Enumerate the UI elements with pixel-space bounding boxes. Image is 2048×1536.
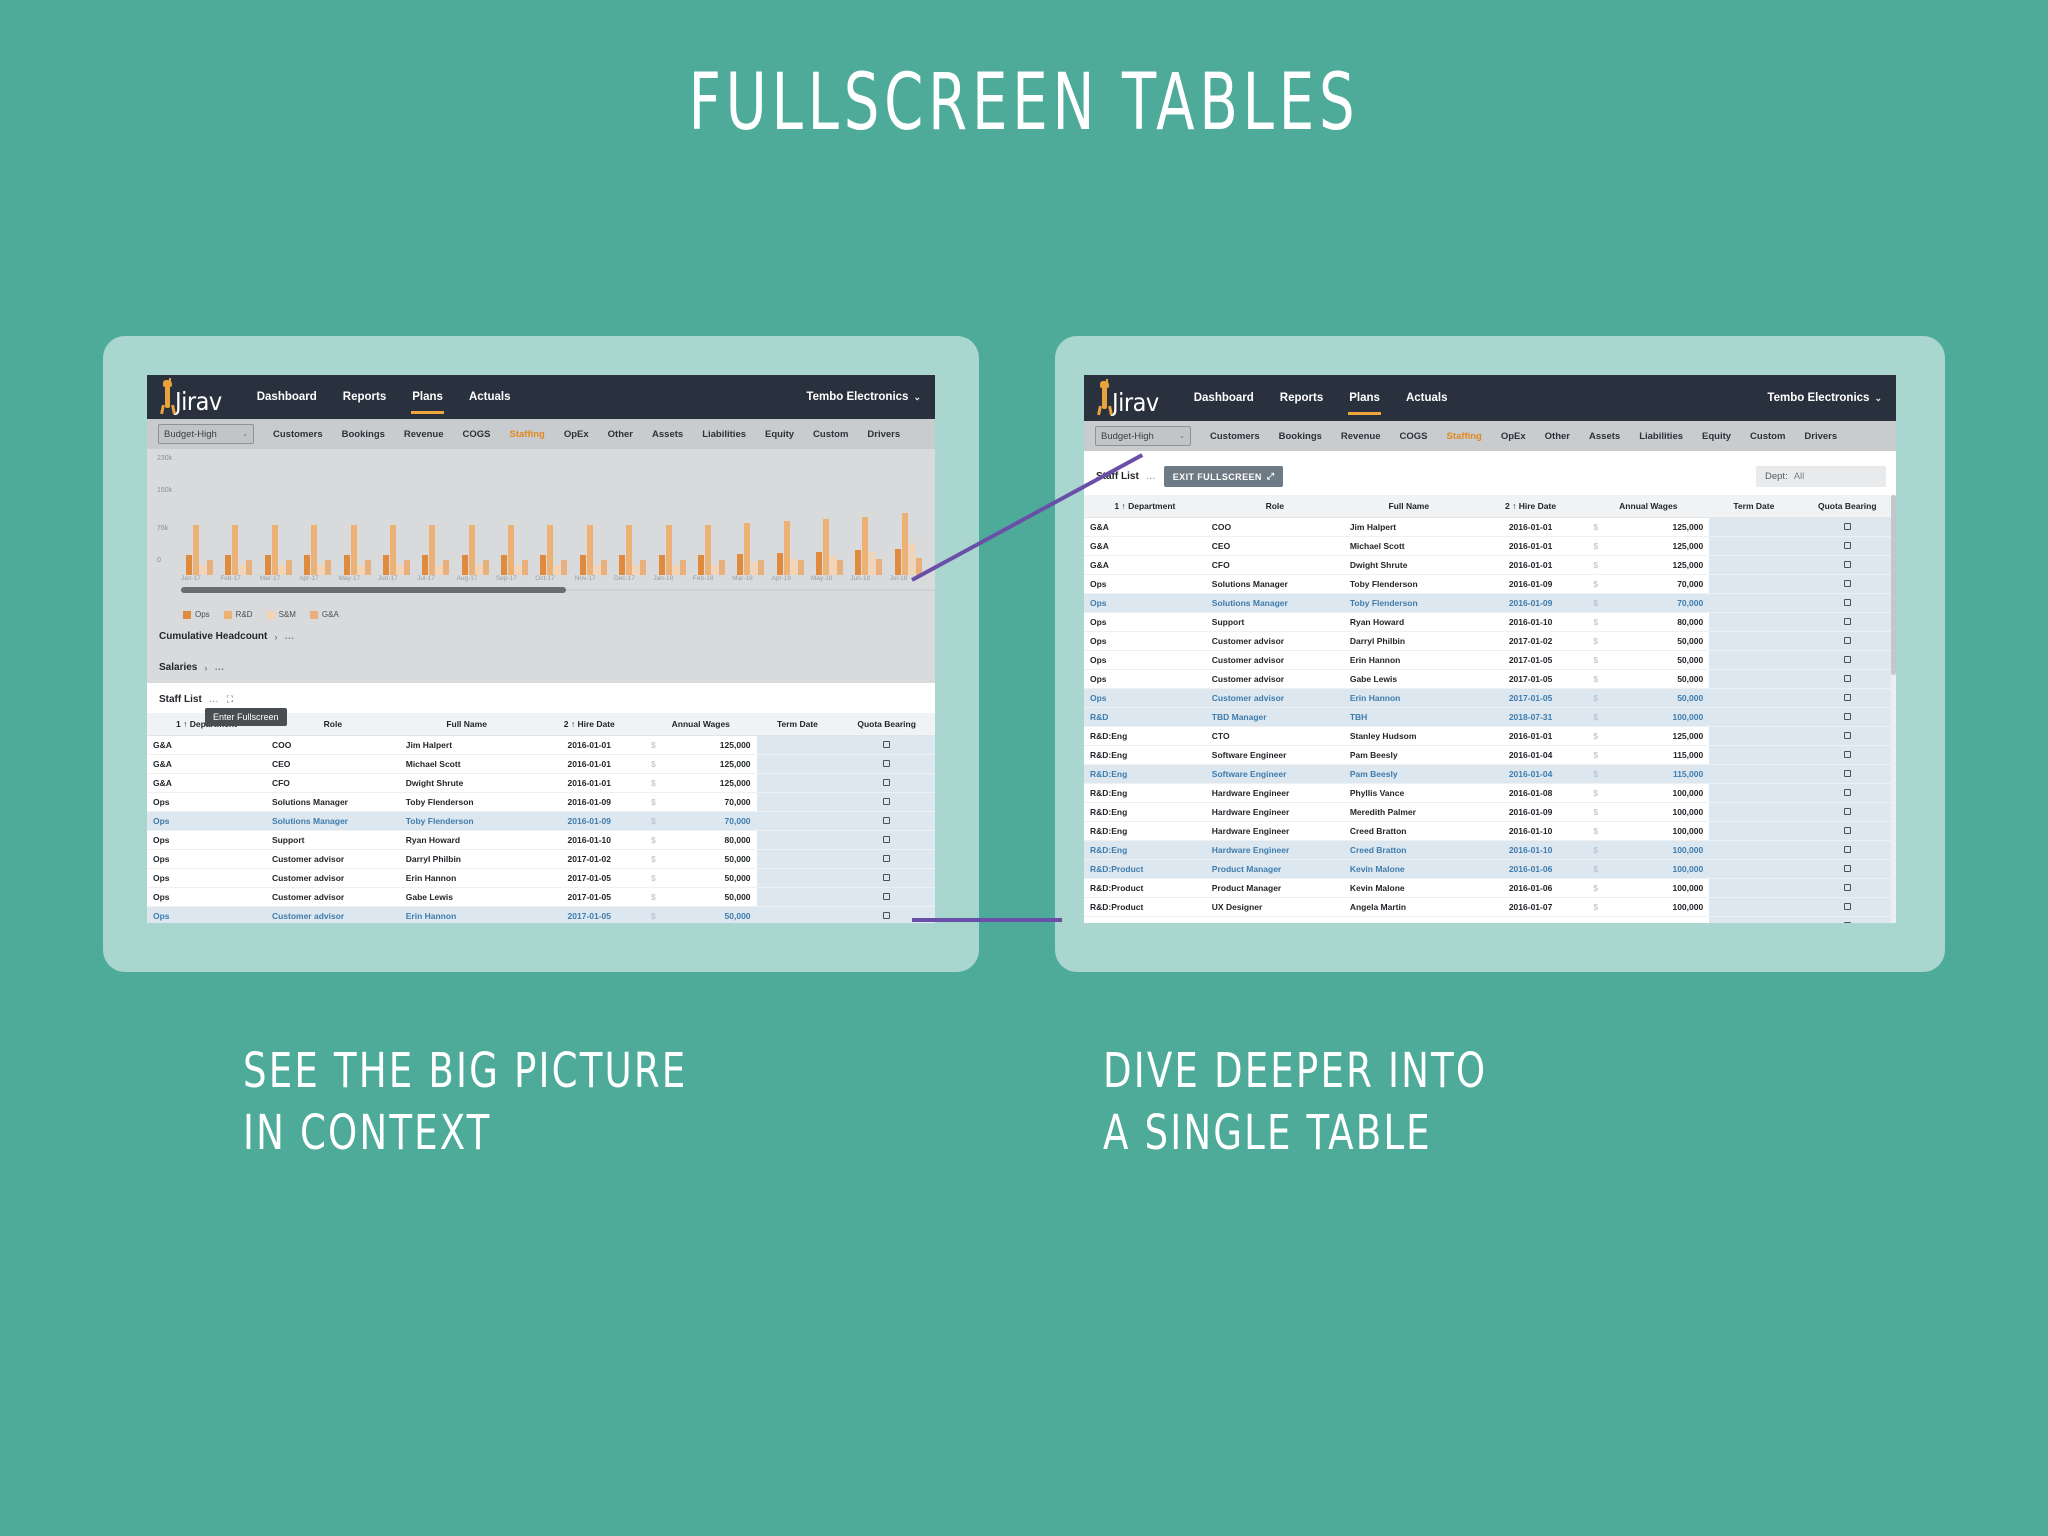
cell-annual-wages[interactable]: $125,000 (645, 755, 757, 774)
cell-full-name[interactable]: Jim Halpert (1344, 518, 1474, 537)
cell-hire-date[interactable]: 2017-01-02 (534, 850, 646, 869)
cell-quota-bearing[interactable] (1799, 670, 1896, 689)
subnav-customers[interactable]: Customers (273, 429, 323, 440)
cell-quota-bearing[interactable] (1799, 594, 1896, 613)
cell-quota-bearing[interactable] (838, 755, 935, 774)
cell-department[interactable]: G&A (147, 736, 266, 755)
cell-hire-date[interactable]: 2016-01-06 (1474, 860, 1588, 879)
table-row[interactable]: G&ACOOJim Halpert2016-01-01$125,000 (147, 736, 935, 755)
cell-term-date[interactable] (1709, 765, 1798, 784)
cell-hire-date[interactable]: 2016-01-11 (1474, 917, 1588, 924)
cell-hire-date[interactable]: 2016-01-01 (1474, 537, 1588, 556)
cell-term-date[interactable] (757, 774, 839, 793)
quota-bearing-checkbox[interactable] (883, 836, 890, 843)
subnav-bookings[interactable]: Bookings (1279, 431, 1322, 442)
cell-term-date[interactable] (1709, 784, 1798, 803)
table-row[interactable]: G&ACEOMichael Scott2016-01-01$125,000 (147, 755, 935, 774)
subnav-opex[interactable]: OpEx (564, 429, 589, 440)
quota-bearing-checkbox[interactable] (883, 779, 890, 786)
cell-term-date[interactable] (1709, 822, 1798, 841)
cell-department[interactable]: Ops (147, 831, 266, 850)
org-switcher[interactable]: Tembo Electronics ⌄ (806, 391, 921, 403)
subnav-drivers[interactable]: Drivers (867, 429, 900, 440)
col-term-date[interactable]: Term Date (757, 713, 839, 736)
cell-term-date[interactable] (1709, 537, 1798, 556)
cell-annual-wages[interactable]: $125,000 (1587, 727, 1709, 746)
table-row[interactable]: OpsCustomer advisorDarryl Philbin2017-01… (147, 850, 935, 869)
cell-department[interactable]: S&M:Marketing (1084, 917, 1206, 924)
cell-hire-date[interactable]: 2017-01-05 (534, 869, 646, 888)
cell-term-date[interactable] (757, 736, 839, 755)
table-row[interactable]: R&DTBD ManagerTBH2018-07-31$100,000 (1084, 708, 1896, 727)
table-row[interactable]: OpsCustomer advisorErin Hannon2017-01-05… (1084, 689, 1896, 708)
subnav-cogs[interactable]: COGS (463, 429, 491, 440)
jirav-logo[interactable]: Jirav (159, 380, 222, 414)
nav-plans[interactable]: Plans (411, 378, 444, 416)
cell-role[interactable]: Solutions Manager (266, 793, 400, 812)
cell-full-name[interactable]: Creed Bratton (1344, 841, 1474, 860)
quota-bearing-checkbox[interactable] (1844, 865, 1851, 872)
col-department[interactable]: 1 ↑ Department (1084, 495, 1206, 518)
cell-full-name[interactable]: Toby Flenderson (1344, 594, 1474, 613)
col-hire-date[interactable]: 2 ↑ Hire Date (1474, 495, 1588, 518)
cell-full-name[interactable]: Dwight Shrute (1344, 556, 1474, 575)
cell-hire-date[interactable]: 2016-01-10 (534, 831, 646, 850)
cell-annual-wages[interactable]: $100,000 (1587, 803, 1709, 822)
cell-annual-wages[interactable]: $125,000 (1587, 556, 1709, 575)
col-quota-bearing[interactable]: Quota Bearing (1799, 495, 1896, 518)
cell-quota-bearing[interactable] (838, 888, 935, 907)
cell-term-date[interactable] (1709, 879, 1798, 898)
cell-role[interactable]: Customer advisor (266, 907, 400, 924)
cell-annual-wages[interactable]: $80,000 (1587, 613, 1709, 632)
cell-quota-bearing[interactable] (1799, 613, 1896, 632)
cell-role[interactable]: Hardware Engineer (1206, 841, 1344, 860)
subnav-liabilities[interactable]: Liabilities (1639, 431, 1683, 442)
cell-department[interactable]: Ops (1084, 670, 1206, 689)
cell-term-date[interactable] (757, 850, 839, 869)
cell-role[interactable]: Marketing manager (1206, 917, 1344, 924)
cell-annual-wages[interactable]: $100,000 (1587, 860, 1709, 879)
table-row[interactable]: R&D:EngSoftware EngineerPam Beesly2016-0… (1084, 765, 1896, 784)
subnav-customers[interactable]: Customers (1210, 431, 1260, 442)
quota-bearing-checkbox[interactable] (1844, 751, 1851, 758)
cell-role[interactable]: Solutions Manager (266, 812, 400, 831)
cell-annual-wages[interactable]: $70,000 (1587, 575, 1709, 594)
table-row[interactable]: R&D:EngHardware EngineerPhyllis Vance201… (1084, 784, 1896, 803)
nav-dashboard[interactable]: Dashboard (256, 378, 318, 416)
cell-department[interactable]: G&A (1084, 537, 1206, 556)
col-role[interactable]: Role (1206, 495, 1344, 518)
cell-annual-wages[interactable]: $100,000 (1587, 708, 1709, 727)
col-annual-wages[interactable]: Annual Wages (1587, 495, 1709, 518)
cell-term-date[interactable] (1709, 803, 1798, 822)
cell-role[interactable]: CTO (1206, 727, 1344, 746)
cell-full-name[interactable]: Darryl Philbin (1344, 632, 1474, 651)
cell-role[interactable]: COO (266, 736, 400, 755)
table-vertical-scrollbar[interactable] (1891, 495, 1896, 923)
cell-role[interactable]: Customer advisor (1206, 670, 1344, 689)
cell-full-name[interactable]: Michael Scott (400, 755, 534, 774)
cell-quota-bearing[interactable] (1799, 537, 1896, 556)
col-full-name[interactable]: Full Name (1344, 495, 1474, 518)
cell-annual-wages[interactable]: $100,000 (1587, 841, 1709, 860)
cell-role[interactable]: Customer advisor (266, 869, 400, 888)
table-row[interactable]: OpsCustomer advisorDarryl Philbin2017-01… (1084, 632, 1896, 651)
cell-department[interactable]: Ops (1084, 632, 1206, 651)
quota-bearing-checkbox[interactable] (1844, 808, 1851, 815)
quota-bearing-checkbox[interactable] (1844, 884, 1851, 891)
cell-full-name[interactable]: Erin Hannon (400, 907, 534, 924)
overflow-menu-icon[interactable]: … (284, 631, 295, 642)
cell-department[interactable]: G&A (1084, 556, 1206, 575)
cell-role[interactable]: Customer advisor (1206, 632, 1344, 651)
cell-hire-date[interactable]: 2016-01-01 (1474, 518, 1588, 537)
table-row[interactable]: OpsCustomer advisorErin Hannon2017-01-05… (147, 869, 935, 888)
cell-hire-date[interactable]: 2016-01-09 (534, 793, 646, 812)
cell-department[interactable]: Ops (147, 888, 266, 907)
legend-item-ops[interactable]: Ops (183, 610, 210, 619)
cell-quota-bearing[interactable] (1799, 803, 1896, 822)
cell-quota-bearing[interactable] (1799, 765, 1896, 784)
table-row[interactable]: R&D:ProductProduct ManagerKevin Malone20… (1084, 879, 1896, 898)
table-row[interactable]: OpsSolutions ManagerToby Flenderson2016-… (147, 812, 935, 831)
cell-hire-date[interactable]: 2016-01-01 (534, 736, 646, 755)
cell-annual-wages[interactable]: $115,000 (1587, 746, 1709, 765)
cell-hire-date[interactable]: 2016-01-10 (1474, 613, 1588, 632)
quota-bearing-checkbox[interactable] (1844, 561, 1851, 568)
quota-bearing-checkbox[interactable] (883, 912, 890, 919)
cell-role[interactable]: Hardware Engineer (1206, 803, 1344, 822)
quota-bearing-checkbox[interactable] (1844, 637, 1851, 644)
nav-reports[interactable]: Reports (342, 378, 387, 416)
cell-department[interactable]: R&D (1084, 708, 1206, 727)
cell-hire-date[interactable]: 2017-01-05 (1474, 670, 1588, 689)
table-row[interactable]: R&D:EngCTOStanley Hudsom2016-01-01$125,0… (1084, 727, 1896, 746)
cell-quota-bearing[interactable] (838, 812, 935, 831)
cell-hire-date[interactable]: 2016-01-09 (1474, 575, 1588, 594)
quota-bearing-checkbox[interactable] (883, 760, 890, 767)
cell-term-date[interactable] (1709, 898, 1798, 917)
cell-role[interactable]: Customer advisor (266, 888, 400, 907)
cell-full-name[interactable]: Angela Martin (1344, 898, 1474, 917)
cell-annual-wages[interactable]: $60,000 (1587, 917, 1709, 924)
cell-role[interactable]: Support (1206, 613, 1344, 632)
cell-hire-date[interactable]: 2016-01-01 (534, 774, 646, 793)
subnav-equity[interactable]: Equity (1702, 431, 1731, 442)
quota-bearing-checkbox[interactable] (1844, 656, 1851, 663)
cell-department[interactable]: Ops (1084, 651, 1206, 670)
cell-term-date[interactable] (1709, 518, 1798, 537)
exit-fullscreen-button[interactable]: EXIT FULLSCREEN ⤢ (1164, 466, 1284, 487)
cell-full-name[interactable]: Erin Hannon (1344, 689, 1474, 708)
subnav-custom[interactable]: Custom (813, 429, 848, 440)
cell-hire-date[interactable]: 2016-01-09 (534, 812, 646, 831)
quota-bearing-checkbox[interactable] (1844, 618, 1851, 625)
quota-bearing-checkbox[interactable] (1844, 732, 1851, 739)
cell-full-name[interactable]: Dwight Shrute (400, 774, 534, 793)
cell-role[interactable]: Solutions Manager (1206, 575, 1344, 594)
cell-quota-bearing[interactable] (1799, 746, 1896, 765)
dept-filter[interactable]: Dept: All (1756, 466, 1886, 487)
subnav-assets[interactable]: Assets (652, 429, 683, 440)
cell-annual-wages[interactable]: $100,000 (1587, 784, 1709, 803)
cell-quota-bearing[interactable] (1799, 917, 1896, 924)
cell-quota-bearing[interactable] (1799, 898, 1896, 917)
subnav-staffing[interactable]: Staffing (510, 429, 545, 440)
cell-term-date[interactable] (1709, 746, 1798, 765)
table-row[interactable]: R&D:EngSoftware EngineerPam Beesly2016-0… (1084, 746, 1896, 765)
cell-term-date[interactable] (1709, 670, 1798, 689)
overflow-menu-icon[interactable]: … (1146, 471, 1157, 482)
table-row[interactable]: OpsSupportRyan Howard2016-01-10$80,000 (1084, 613, 1896, 632)
quota-bearing-checkbox[interactable] (1844, 580, 1851, 587)
cell-annual-wages[interactable]: $50,000 (1587, 670, 1709, 689)
cell-department[interactable]: Ops (147, 812, 266, 831)
cell-role[interactable]: Software Engineer (1206, 765, 1344, 784)
cell-hire-date[interactable]: 2017-01-05 (534, 888, 646, 907)
cell-hire-date[interactable]: 2016-01-08 (1474, 784, 1588, 803)
cell-annual-wages[interactable]: $50,000 (645, 869, 757, 888)
cell-hire-date[interactable]: 2016-01-01 (1474, 727, 1588, 746)
cell-role[interactable]: Hardware Engineer (1206, 784, 1344, 803)
cell-role[interactable]: TBD Manager (1206, 708, 1344, 727)
table-row[interactable]: OpsSupportRyan Howard2016-01-10$80,000 (147, 831, 935, 850)
cell-term-date[interactable] (1709, 708, 1798, 727)
cell-full-name[interactable]: Pam Beesly (1344, 746, 1474, 765)
cell-role[interactable]: Support (266, 831, 400, 850)
cell-role[interactable]: COO (1206, 518, 1344, 537)
cell-department[interactable]: G&A (147, 755, 266, 774)
subnav-opex[interactable]: OpEx (1501, 431, 1526, 442)
jirav-logo[interactable]: Jirav (1096, 381, 1159, 415)
cell-department[interactable]: R&D:Eng (1084, 784, 1206, 803)
subnav-revenue[interactable]: Revenue (1341, 431, 1381, 442)
subnav-drivers[interactable]: Drivers (1804, 431, 1837, 442)
cell-annual-wages[interactable]: $50,000 (645, 888, 757, 907)
cell-annual-wages[interactable]: $125,000 (645, 736, 757, 755)
cell-full-name[interactable]: Stanley Hudsom (1344, 727, 1474, 746)
cell-term-date[interactable] (1709, 689, 1798, 708)
cell-annual-wages[interactable]: $70,000 (645, 793, 757, 812)
cell-full-name[interactable]: Kevin Malone (1344, 879, 1474, 898)
quota-bearing-checkbox[interactable] (1844, 770, 1851, 777)
subnav-revenue[interactable]: Revenue (404, 429, 444, 440)
cell-annual-wages[interactable]: $125,000 (645, 774, 757, 793)
cell-annual-wages[interactable]: $70,000 (645, 812, 757, 831)
cell-term-date[interactable] (1709, 575, 1798, 594)
cell-term-date[interactable] (757, 755, 839, 774)
cell-term-date[interactable] (757, 907, 839, 924)
table-row[interactable]: G&ACOOJim Halpert2016-01-01$125,000 (1084, 518, 1896, 537)
section-cumulative-headcount[interactable]: Cumulative Headcount › … (147, 621, 935, 652)
cell-quota-bearing[interactable] (1799, 632, 1896, 651)
col-quota-bearing[interactable]: Quota Bearing (838, 713, 935, 736)
cell-department[interactable]: Ops (147, 793, 266, 812)
cell-hire-date[interactable]: 2016-01-10 (1474, 841, 1588, 860)
quota-bearing-checkbox[interactable] (883, 893, 890, 900)
scrollbar-thumb[interactable] (181, 587, 566, 593)
cell-quota-bearing[interactable] (1799, 841, 1896, 860)
cell-annual-wages[interactable]: $70,000 (1587, 594, 1709, 613)
cell-role[interactable]: Hardware Engineer (1206, 822, 1344, 841)
cell-hire-date[interactable]: 2017-01-05 (534, 907, 646, 924)
cell-full-name[interactable]: Erin Hannon (400, 869, 534, 888)
cell-department[interactable]: G&A (147, 774, 266, 793)
cell-role[interactable]: CFO (266, 774, 400, 793)
cell-department[interactable]: R&D:Eng (1084, 727, 1206, 746)
table-row[interactable]: R&D:EngHardware EngineerCreed Bratton201… (1084, 841, 1896, 860)
cell-full-name[interactable]: Meredith Palmer (1344, 803, 1474, 822)
cell-hire-date[interactable]: 2016-01-07 (1474, 898, 1588, 917)
cell-full-name[interactable]: Toby Flenderson (400, 793, 534, 812)
table-row[interactable]: OpsCustomer advisorErin Hannon2017-01-05… (1084, 651, 1896, 670)
org-switcher[interactable]: Tembo Electronics ⌄ (1767, 392, 1882, 404)
quota-bearing-checkbox[interactable] (1844, 789, 1851, 796)
subnav-bookings[interactable]: Bookings (342, 429, 385, 440)
quota-bearing-checkbox[interactable] (1844, 903, 1851, 910)
cell-annual-wages[interactable]: $50,000 (1587, 632, 1709, 651)
table-row[interactable]: OpsSolutions ManagerToby Flenderson2016-… (147, 793, 935, 812)
cell-department[interactable]: G&A (1084, 518, 1206, 537)
cell-department[interactable]: Ops (147, 869, 266, 888)
cell-full-name[interactable]: Michael Scott (1344, 537, 1474, 556)
cell-role[interactable]: Customer advisor (1206, 689, 1344, 708)
cell-hire-date[interactable]: 2016-01-10 (1474, 822, 1588, 841)
cell-role[interactable]: Customer advisor (266, 850, 400, 869)
cell-department[interactable]: R&D:Product (1084, 879, 1206, 898)
cell-department[interactable]: R&D:Eng (1084, 746, 1206, 765)
scenario-select[interactable]: Budget-High ⌄ (158, 424, 254, 444)
cell-full-name[interactable]: Pam Beesly (1344, 765, 1474, 784)
cell-role[interactable]: Product Manager (1206, 879, 1344, 898)
cell-role[interactable]: CEO (266, 755, 400, 774)
cell-full-name[interactable]: Gabe Lewis (1344, 670, 1474, 689)
subnav-staffing[interactable]: Staffing (1447, 431, 1482, 442)
subnav-assets[interactable]: Assets (1589, 431, 1620, 442)
cell-hire-date[interactable]: 2016-01-04 (1474, 765, 1588, 784)
table-row[interactable]: G&ACFODwight Shrute2016-01-01$125,000 (147, 774, 935, 793)
quota-bearing-checkbox[interactable] (1844, 922, 1851, 923)
cell-quota-bearing[interactable] (1799, 708, 1896, 727)
table-row[interactable]: OpsSolutions ManagerToby Flenderson2016-… (1084, 594, 1896, 613)
cell-term-date[interactable] (757, 888, 839, 907)
cell-quota-bearing[interactable] (1799, 727, 1896, 746)
subnav-other[interactable]: Other (608, 429, 633, 440)
cell-department[interactable]: Ops (1084, 689, 1206, 708)
cell-department[interactable]: R&D:Product (1084, 898, 1206, 917)
overflow-menu-icon[interactable]: … (214, 662, 225, 673)
cell-quota-bearing[interactable] (1799, 689, 1896, 708)
cell-quota-bearing[interactable] (838, 869, 935, 888)
cell-annual-wages[interactable]: $50,000 (1587, 651, 1709, 670)
quota-bearing-checkbox[interactable] (1844, 675, 1851, 682)
cell-department[interactable]: Ops (1084, 575, 1206, 594)
cell-term-date[interactable] (1709, 556, 1798, 575)
cell-hire-date[interactable]: 2016-01-09 (1474, 803, 1588, 822)
quota-bearing-checkbox[interactable] (883, 798, 890, 805)
cell-hire-date[interactable]: 2016-01-09 (1474, 594, 1588, 613)
cell-term-date[interactable] (1709, 841, 1798, 860)
cell-role[interactable]: CFO (1206, 556, 1344, 575)
table-row[interactable]: OpsSolutions ManagerToby Flenderson2016-… (1084, 575, 1896, 594)
cell-annual-wages[interactable]: $125,000 (1587, 537, 1709, 556)
cell-hire-date[interactable]: 2016-01-04 (1474, 746, 1588, 765)
cell-hire-date[interactable]: 2017-01-05 (1474, 689, 1588, 708)
legend-item-ga[interactable]: G&A (310, 610, 339, 619)
cell-role[interactable]: Software Engineer (1206, 746, 1344, 765)
cell-annual-wages[interactable]: $80,000 (645, 831, 757, 850)
cell-department[interactable]: Ops (147, 850, 266, 869)
cell-role[interactable]: CEO (1206, 537, 1344, 556)
cell-annual-wages[interactable]: $100,000 (1587, 879, 1709, 898)
cell-department[interactable]: Ops (1084, 613, 1206, 632)
cell-quota-bearing[interactable] (838, 774, 935, 793)
cell-department[interactable]: R&D:Eng (1084, 841, 1206, 860)
table-row[interactable]: OpsCustomer advisorGabe Lewis2017-01-05$… (1084, 670, 1896, 689)
cell-full-name[interactable]: Creed Bratton (1344, 822, 1474, 841)
cell-term-date[interactable] (757, 793, 839, 812)
expand-icon[interactable]: ⛶ (227, 694, 232, 705)
cell-full-name[interactable]: Kelly Kapoor (1344, 917, 1474, 924)
cell-term-date[interactable] (1709, 727, 1798, 746)
cell-term-date[interactable] (1709, 651, 1798, 670)
cell-annual-wages[interactable]: $100,000 (1587, 822, 1709, 841)
quota-bearing-checkbox[interactable] (1844, 846, 1851, 853)
table-row[interactable]: R&D:EngHardware EngineerMeredith Palmer2… (1084, 803, 1896, 822)
subnav-cogs[interactable]: COGS (1400, 431, 1428, 442)
cell-role[interactable]: Customer advisor (1206, 651, 1344, 670)
cell-quota-bearing[interactable] (838, 793, 935, 812)
col-hire-date[interactable]: 2 ↑ Hire Date (534, 713, 646, 736)
subnav-equity[interactable]: Equity (765, 429, 794, 440)
col-annual-wages[interactable]: Annual Wages (645, 713, 757, 736)
nav-plans[interactable]: Plans (1348, 379, 1381, 417)
section-salaries[interactable]: Salaries › … (147, 652, 935, 683)
table-row[interactable]: OpsCustomer advisorErin Hannon2017-01-05… (147, 907, 935, 924)
cell-term-date[interactable] (1709, 613, 1798, 632)
cell-full-name[interactable]: TBH (1344, 708, 1474, 727)
cell-department[interactable]: Ops (147, 907, 266, 924)
cell-hire-date[interactable]: 2016-01-06 (1474, 879, 1588, 898)
quota-bearing-checkbox[interactable] (1844, 827, 1851, 834)
cell-quota-bearing[interactable] (1799, 651, 1896, 670)
cell-full-name[interactable]: Jim Halpert (400, 736, 534, 755)
subnav-custom[interactable]: Custom (1750, 431, 1785, 442)
cell-quota-bearing[interactable] (838, 850, 935, 869)
cell-full-name[interactable]: Ryan Howard (400, 831, 534, 850)
quota-bearing-checkbox[interactable] (1844, 523, 1851, 530)
legend-item-rd[interactable]: R&D (224, 610, 253, 619)
subnav-liabilities[interactable]: Liabilities (702, 429, 746, 440)
cell-annual-wages[interactable]: $50,000 (645, 907, 757, 924)
chart-horizontal-scrollbar[interactable] (181, 587, 935, 593)
cell-full-name[interactable]: Erin Hannon (1344, 651, 1474, 670)
cell-quota-bearing[interactable] (838, 736, 935, 755)
table-row[interactable]: R&D:ProductProduct ManagerKevin Malone20… (1084, 860, 1896, 879)
cell-annual-wages[interactable]: $50,000 (645, 850, 757, 869)
quota-bearing-checkbox[interactable] (1844, 599, 1851, 606)
cell-annual-wages[interactable]: $100,000 (1587, 898, 1709, 917)
quota-bearing-checkbox[interactable] (1844, 542, 1851, 549)
quota-bearing-checkbox[interactable] (883, 817, 890, 824)
cell-department[interactable]: R&D:Eng (1084, 803, 1206, 822)
quota-bearing-checkbox[interactable] (883, 741, 890, 748)
cell-role[interactable]: Product Manager (1206, 860, 1344, 879)
cell-full-name[interactable]: Gabe Lewis (400, 888, 534, 907)
cell-department[interactable]: R&D:Product (1084, 860, 1206, 879)
cell-quota-bearing[interactable] (1799, 860, 1896, 879)
